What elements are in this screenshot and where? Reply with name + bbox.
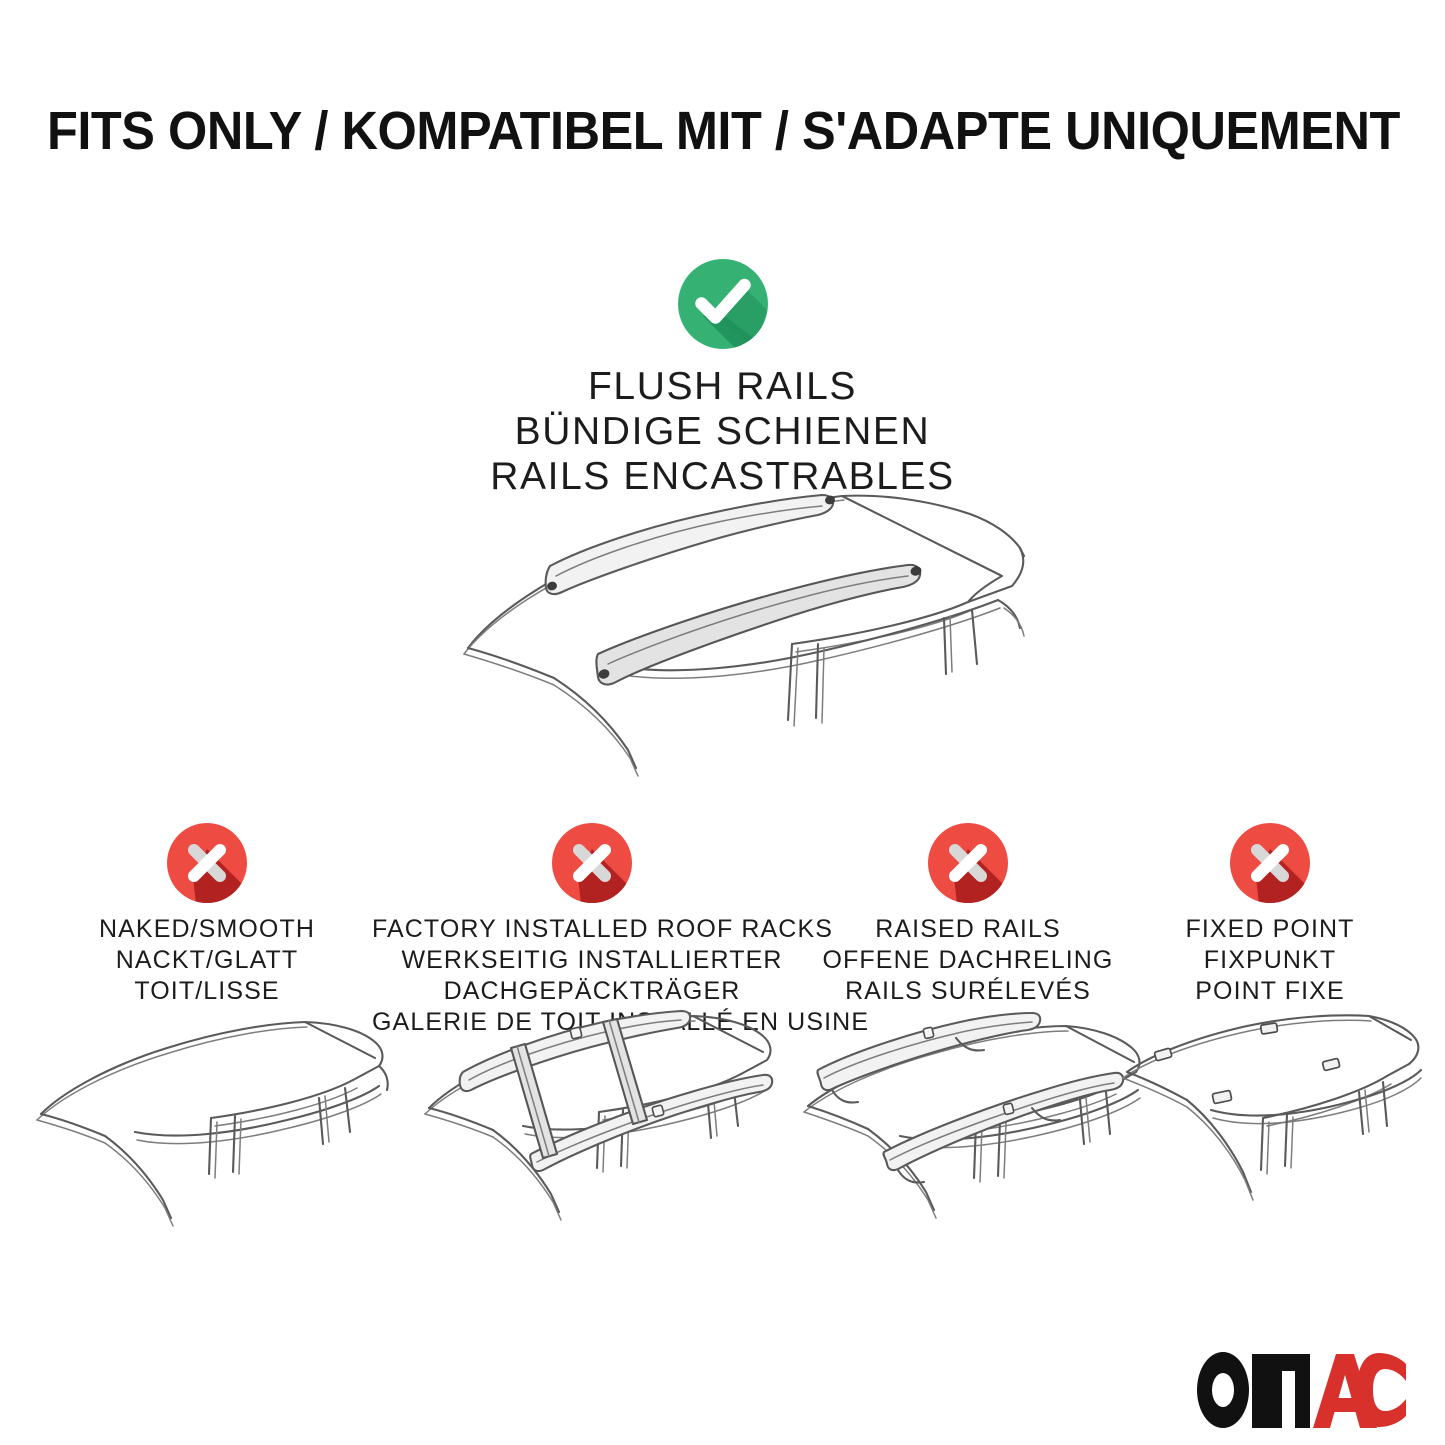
incompatible-label-fr: RAILS SURÉLEVÉS bbox=[803, 976, 1133, 1007]
compatible-section: FLUSH RAILS BÜNDIGE SCHIENEN RAILS ENCAS… bbox=[0, 258, 1445, 499]
check-circle-icon bbox=[677, 258, 769, 350]
incompatible-label-de: OFFENE DACHRELING bbox=[803, 945, 1133, 976]
incompatible-labels: FIXED POINT FIXPUNKT POINT FIXE bbox=[1120, 914, 1420, 1007]
cross-circle-icon bbox=[1229, 822, 1311, 904]
incompatible-item-fixed-point: FIXED POINT FIXPUNKT POINT FIXE bbox=[1120, 822, 1420, 1007]
omac-logo bbox=[1196, 1352, 1406, 1428]
incompatible-label-de: NACKT/GLATT bbox=[27, 945, 387, 976]
cross-circle-icon bbox=[551, 822, 633, 904]
incompatible-section: NAKED/SMOOTH NACKT/GLATT TOIT/LISSE bbox=[0, 822, 1445, 1292]
incompatible-label-fr: POINT FIXE bbox=[1120, 976, 1420, 1007]
car-roof-flush-rails-illustration bbox=[432, 468, 1052, 788]
incompatible-label-de: FIXPUNKT bbox=[1120, 945, 1420, 976]
incompatible-labels: NAKED/SMOOTH NACKT/GLATT TOIT/LISSE bbox=[27, 914, 387, 1007]
car-roof-factory-roof-racks-illustration bbox=[407, 1000, 777, 1240]
car-roof-fixed-point-illustration bbox=[1115, 1014, 1425, 1239]
incompatible-label-en: FACTORY INSTALLED ROOF RACKS bbox=[372, 914, 812, 945]
car-roof-raised-rails-illustration bbox=[788, 1008, 1148, 1238]
car-roof-naked-smooth-illustration bbox=[23, 1014, 391, 1244]
incompatible-label-en: FIXED POINT bbox=[1120, 914, 1420, 945]
incompatible-item-factory-roof-racks: FACTORY INSTALLED ROOF RACKS WERKSEITIG … bbox=[372, 822, 812, 1038]
compatible-label-en: FLUSH RAILS bbox=[0, 364, 1445, 409]
cross-circle-icon bbox=[166, 822, 248, 904]
cross-circle-icon bbox=[927, 822, 1009, 904]
compatible-label-de: BÜNDIGE SCHIENEN bbox=[0, 409, 1445, 454]
page-title: FITS ONLY / KOMPATIBEL MIT / S'ADAPTE UN… bbox=[47, 98, 1398, 164]
incompatible-label-fr: TOIT/LISSE bbox=[27, 976, 387, 1007]
incompatible-label-en: NAKED/SMOOTH bbox=[27, 914, 387, 945]
incompatible-label-en: RAISED RAILS bbox=[803, 914, 1133, 945]
incompatible-item-raised-rails: RAISED RAILS OFFENE DACHRELING RAILS SUR… bbox=[803, 822, 1133, 1007]
incompatible-labels: RAISED RAILS OFFENE DACHRELING RAILS SUR… bbox=[803, 914, 1133, 1007]
incompatible-label-de-1: WERKSEITIG INSTALLIERTER bbox=[372, 945, 812, 976]
incompatible-item-naked-smooth: NAKED/SMOOTH NACKT/GLATT TOIT/LISSE bbox=[27, 822, 387, 1007]
